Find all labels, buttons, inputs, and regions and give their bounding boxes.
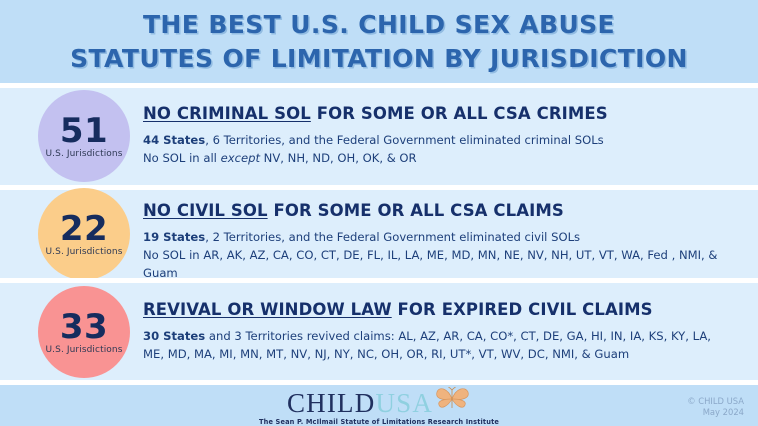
section-body-line-2-pre: No SOL in all [143,151,221,165]
section-content-criminal-sol: NO CRIMINAL SOL FOR SOME OR ALL CSA CRIM… [143,104,751,167]
section-heading: NO CRIMINAL SOL FOR SOME OR ALL CSA CRIM… [143,104,751,124]
section-body-line-2: No SOL in all except NV, NH, ND, OH, OK,… [143,149,751,167]
section-body-line-1-rest: and 3 Territories revived claims: AL, AZ… [205,329,711,343]
section-heading-emphasis: NO CRIMINAL SOL [143,104,311,123]
page-title: THE BEST U.S. CHILD SEX ABUSE STATUTES O… [0,8,758,76]
page-title-line-2: STATUTES OF LIMITATION BY JURISDICTION [0,42,758,76]
section-body-line-2: ME, MD, MA, MI, MN, MT, NV, NJ, NY, NC, … [143,345,751,363]
badge-caption: U.S. Jurisdictions [45,345,122,355]
copyright-line-1: © CHILD USA [624,396,744,407]
infographic-poster: THE BEST U.S. CHILD SEX ABUSE STATUTES O… [0,0,758,426]
section-heading-rest: FOR SOME OR ALL CSA CRIMES [311,104,608,123]
section-body: 19 States, 2 Territories, and the Federa… [143,228,751,282]
section-body-line-1: 19 States, 2 Territories, and the Federa… [143,228,751,246]
badge-criminal-sol: 51 U.S. Jurisdictions [38,90,130,182]
section-body-line-1-bold: 44 States [143,133,205,147]
logo-text-usa: USA [375,390,433,417]
logo-text-child: CHILD [287,390,376,417]
section-heading-emphasis: REVIVAL OR WINDOW LAW [143,300,392,319]
section-body-line-2: No SOL in AR, AK, AZ, CA, CO, CT, DE, FL… [143,246,751,264]
badge-number: 33 [60,310,108,344]
section-body-line-1-bold: 30 States [143,329,205,343]
section-body-line-1-bold: 19 States [143,230,205,244]
badge-caption: U.S. Jurisdictions [45,149,122,159]
section-body-line-1: 30 States and 3 Territories revived clai… [143,327,751,345]
section-heading-rest: FOR SOME OR ALL CSA CLAIMS [268,201,564,220]
logo-wordmark: CHILDUSA [287,386,471,417]
badge-civil-sol: 22 U.S. Jurisdictions [38,188,130,280]
section-body-line-1: 44 States, 6 Territories, and the Federa… [143,131,751,149]
section-content-civil-sol: NO CIVIL SOL FOR SOME OR ALL CSA CLAIMS … [143,201,751,282]
badge-number: 51 [60,114,108,148]
copyright-line-2: May 2024 [624,407,744,418]
butterfly-icon [435,386,471,416]
section-body-line-1-rest: , 2 Territories, and the Federal Governm… [205,230,580,244]
copyright-notice: © CHILD USA May 2024 [624,396,744,418]
section-heading-emphasis: NO CIVIL SOL [143,201,268,220]
section-body-line-2-post: NV, NH, ND, OH, OK, & OR [260,151,417,165]
section-content-revival-law: REVIVAL OR WINDOW LAW FOR EXPIRED CIVIL … [143,300,751,363]
section-body-line-1-rest: , 6 Territories, and the Federal Governm… [205,133,604,147]
section-heading-rest: FOR EXPIRED CIVIL CLAIMS [392,300,653,319]
section-heading: NO CIVIL SOL FOR SOME OR ALL CSA CLAIMS [143,201,751,221]
section-body: 44 States, 6 Territories, and the Federa… [143,131,751,167]
badge-number: 22 [60,212,108,246]
section-heading: REVIVAL OR WINDOW LAW FOR EXPIRED CIVIL … [143,300,751,320]
header-banner: THE BEST U.S. CHILD SEX ABUSE STATUTES O… [0,0,758,83]
page-title-line-1: THE BEST U.S. CHILD SEX ABUSE [0,8,758,42]
section-body-line-2-italic: except [221,151,260,165]
badge-caption: U.S. Jurisdictions [45,247,122,257]
logo-tagline: The Sean P. McIlmail Statute of Limitati… [259,418,499,426]
section-body: 30 States and 3 Territories revived clai… [143,327,751,363]
badge-revival-law: 33 U.S. Jurisdictions [38,286,130,378]
